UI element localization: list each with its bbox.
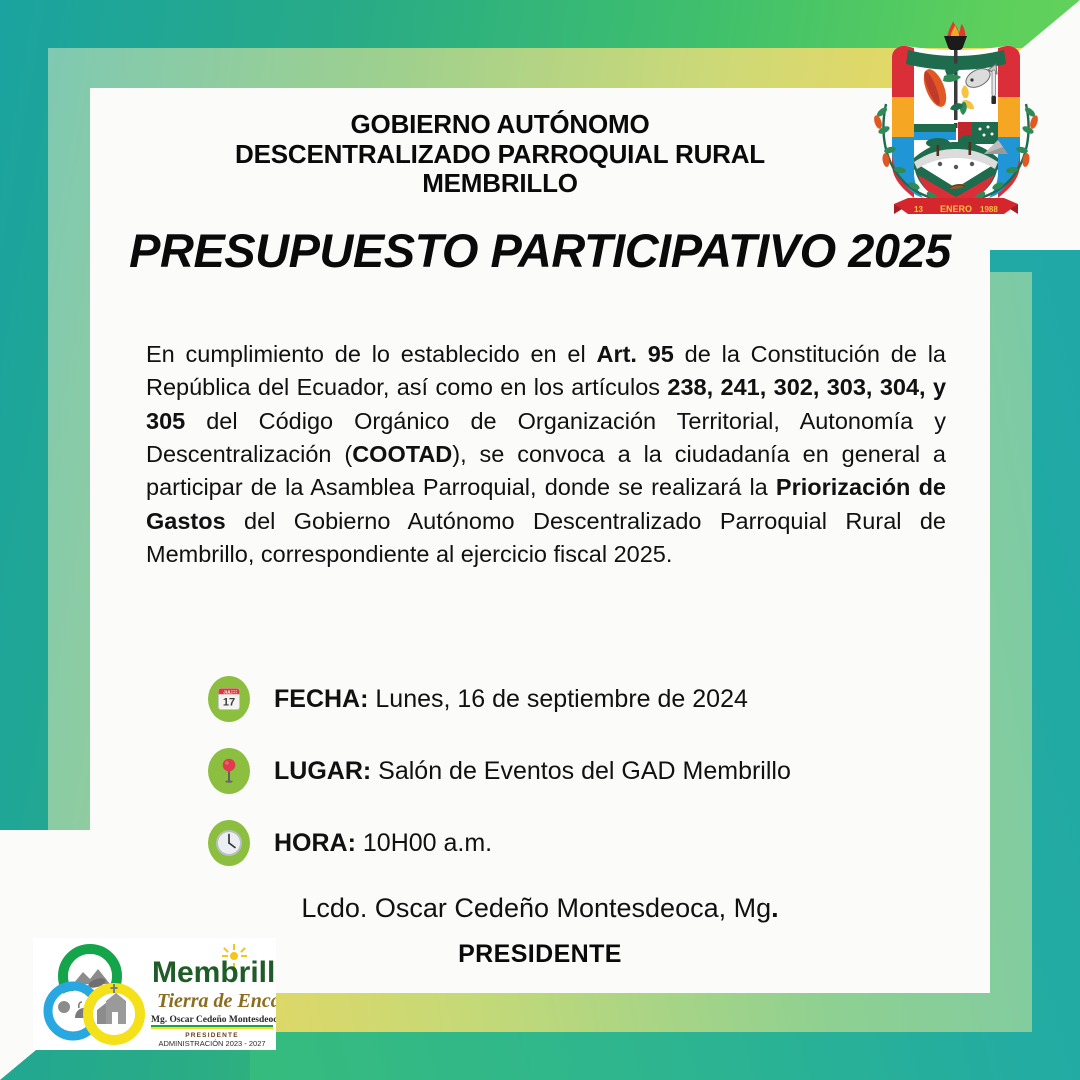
detail-row-hora: HORA: 10H00 a.m.	[208, 814, 968, 872]
coat-of-arms-icon: 13 ENERO 1988	[852, 12, 1060, 227]
body-bold-cootad: COOTAD	[352, 441, 452, 467]
clock-icon	[208, 820, 250, 866]
svg-text:17: 17	[223, 697, 235, 709]
detail-row-fecha: JUL 17 FECHA: Lunes, 16 de septiembre de…	[208, 670, 968, 728]
detail-value-hora: 10H00 a.m.	[356, 829, 492, 857]
logo-circle-church	[88, 984, 140, 1040]
logo-title: Membrillo	[152, 956, 276, 989]
svg-text:JUL: JUL	[223, 689, 232, 694]
calendar-icon: JUL 17	[208, 676, 250, 722]
ribbon: 13 ENERO 1988	[894, 198, 1018, 214]
org-title-line-2: DESCENTRALIZADO PARROQUIAL RURAL	[140, 140, 860, 170]
torch	[944, 21, 967, 50]
detail-text-fecha: FECHA: Lunes, 16 de septiembre de 2024	[274, 685, 748, 714]
detail-value-lugar: Salón de Eventos del GAD Membrillo	[371, 757, 791, 785]
signature-name-text: Lcdo. Oscar Cedeño Montesdeoca, Mg	[301, 893, 771, 923]
event-details: JUL 17 FECHA: Lunes, 16 de septiembre de…	[208, 670, 968, 886]
poster: GOBIERNO AUTÓNOMO DESCENTRALIZADO PARROQ…	[0, 0, 1080, 1080]
ribbon-center: ENERO	[940, 204, 972, 214]
detail-row-lugar: LUGAR: Salón de Eventos del GAD Membrill…	[208, 742, 968, 800]
detail-text-lugar: LUGAR: Salón de Eventos del GAD Membrill…	[274, 757, 791, 786]
detail-text-hora: HORA: 10H00 a.m.	[274, 829, 492, 858]
page-title: PRESUPUESTO PARTICIPATIVO 2025	[100, 223, 980, 278]
location-pin-icon	[208, 748, 250, 794]
detail-label-lugar: LUGAR:	[274, 757, 371, 785]
detail-label-fecha: FECHA:	[274, 685, 368, 713]
signature-name-dot: .	[771, 893, 779, 923]
logo-tagline: Tierra de Encantos	[157, 990, 276, 1012]
logo-person: Mg. Oscar Cedeño Montesdeoca	[151, 1015, 276, 1025]
ribbon-right: 1988	[980, 205, 998, 214]
signature-name: Lcdo. Oscar Cedeño Montesdeoca, Mg.	[90, 893, 990, 924]
announcement-paragraph: En cumplimiento de lo establecido en el …	[146, 338, 946, 572]
org-title-line-3: MEMBRILLO	[140, 169, 860, 199]
body-seg-1: En cumplimiento de lo establecido en el	[146, 341, 596, 367]
membrillo-logo: Membrillo Tierra de Encantos Mg. Oscar C…	[33, 938, 276, 1050]
detail-label-hora: HORA:	[274, 829, 356, 857]
logo-term: ADMINISTRACIÓN 2023 - 2027	[158, 1039, 265, 1048]
org-title-line-1: GOBIERNO AUTÓNOMO	[140, 110, 860, 140]
ribbon-left: 13	[914, 205, 923, 214]
body-bold-art95: Art. 95	[596, 341, 673, 367]
logo-role: PRESIDENTE	[185, 1032, 239, 1039]
detail-value-fecha: Lunes, 16 de septiembre de 2024	[368, 685, 747, 713]
organization-title: GOBIERNO AUTÓNOMO DESCENTRALIZADO PARROQ…	[140, 110, 860, 199]
body-seg-5: del Gobierno Autónomo Descentralizado Pa…	[146, 508, 946, 567]
